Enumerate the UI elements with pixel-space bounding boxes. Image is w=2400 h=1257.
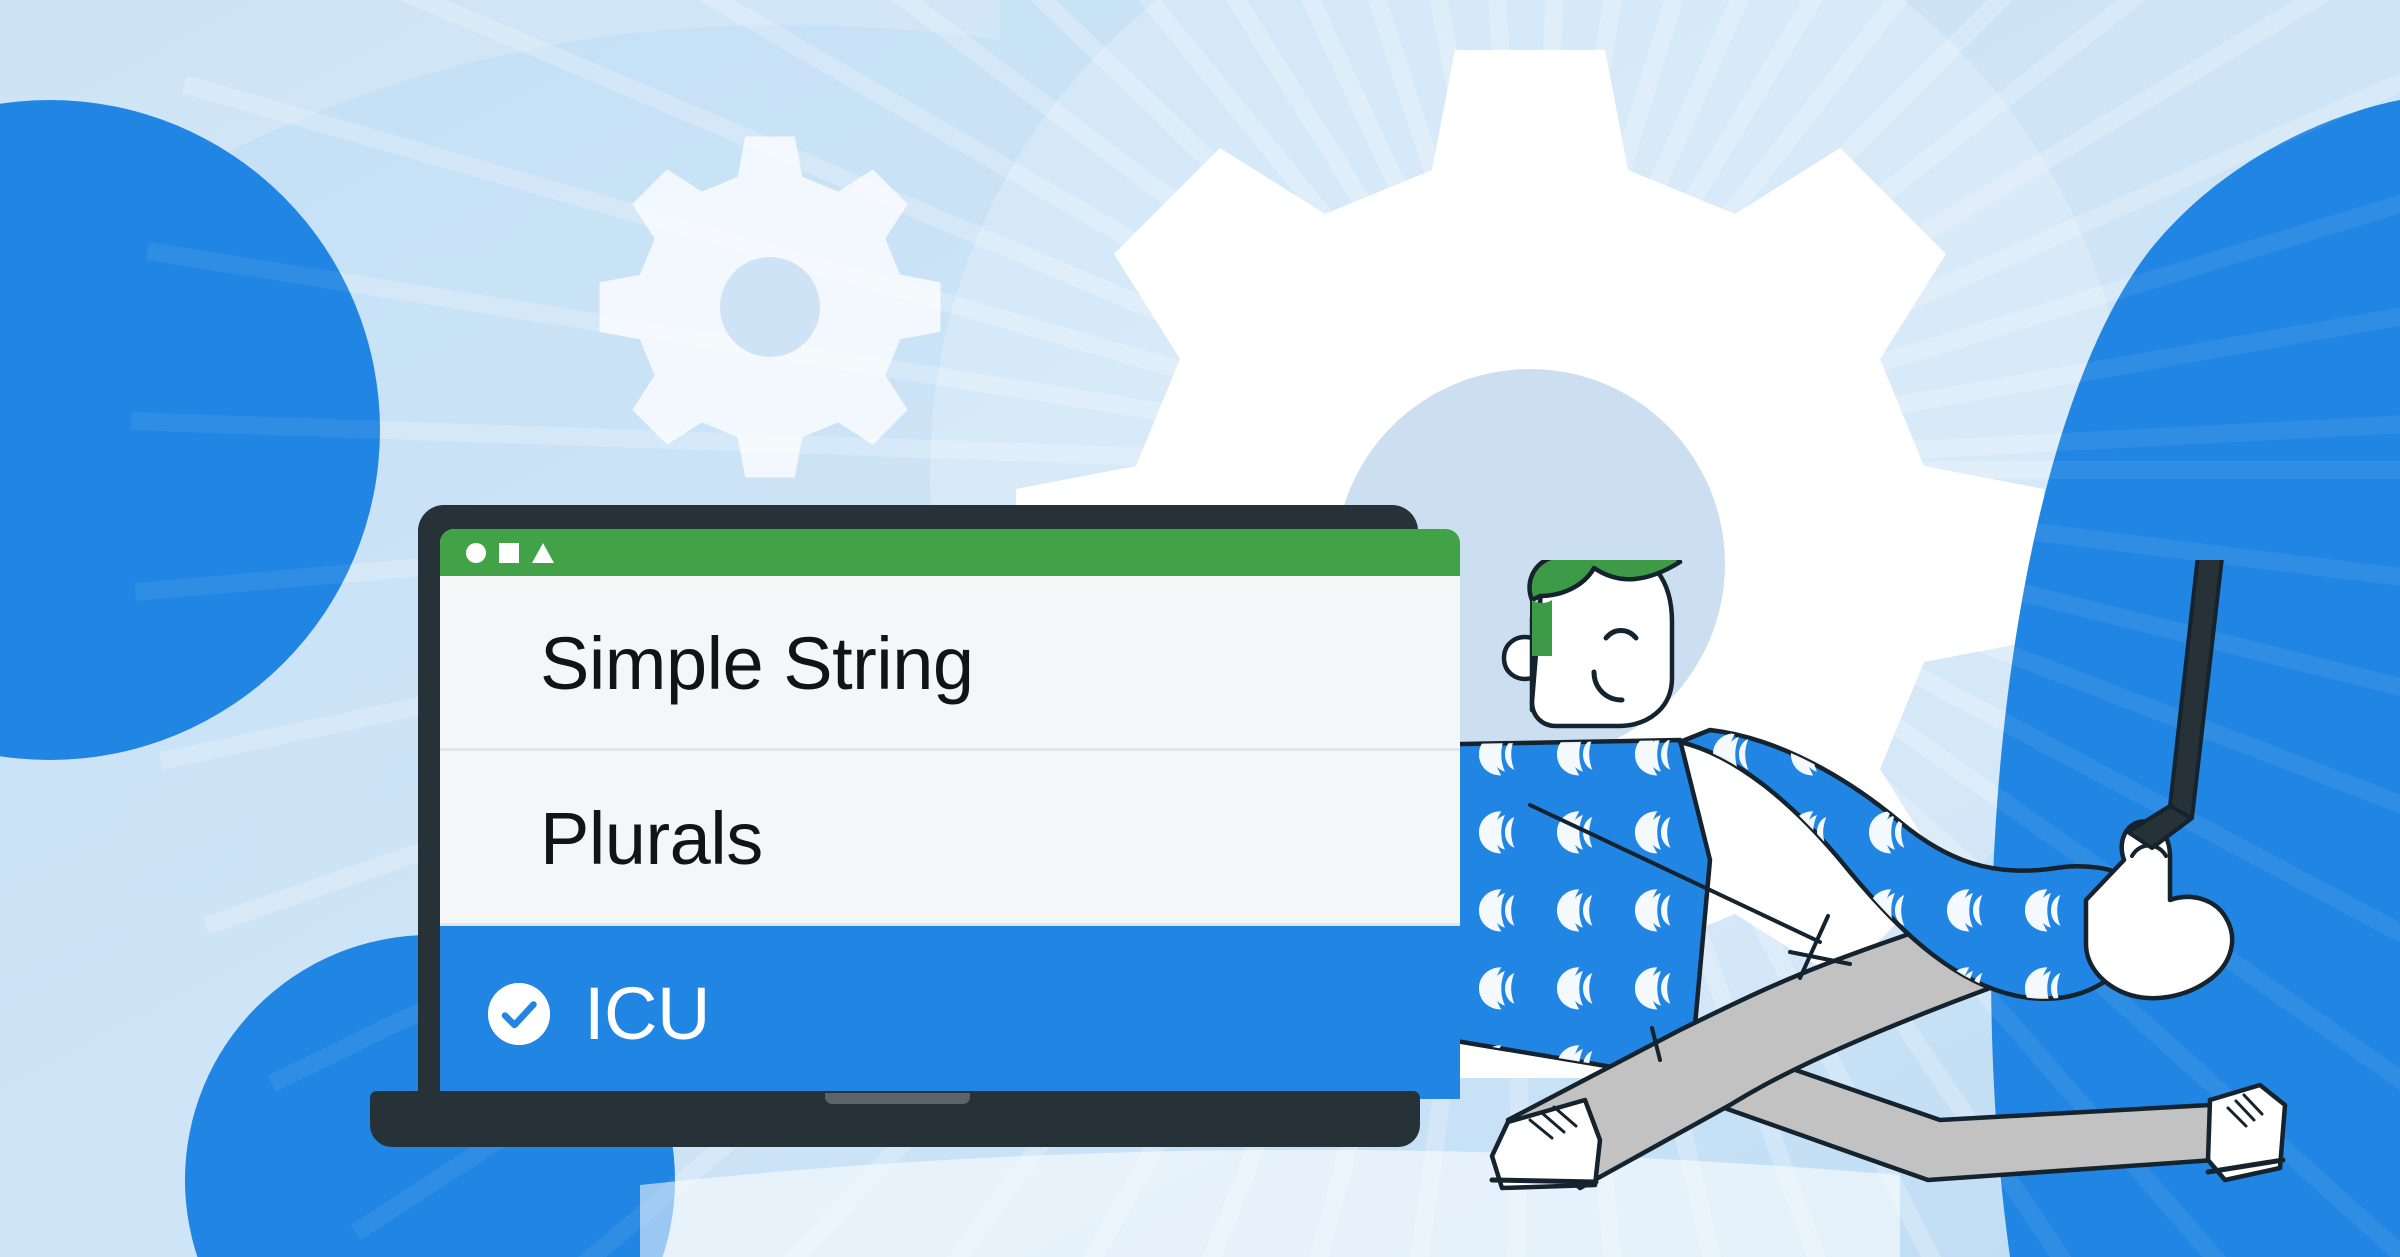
option-row-plurals[interactable]: Plurals (440, 751, 1460, 926)
gear-small-icon (600, 137, 941, 478)
head (1504, 560, 1680, 726)
option-row-simple-string[interactable]: Simple String (440, 576, 1460, 751)
square-control-icon[interactable] (499, 543, 519, 563)
handheld-device (2128, 560, 2222, 848)
check-circle-icon (488, 983, 550, 1045)
window-titlebar (440, 529, 1460, 576)
circle-control-icon[interactable] (466, 543, 486, 563)
laptop-lid: Simple String Plurals ICU (418, 505, 1418, 1100)
option-label-simple-string: Simple String (540, 627, 974, 701)
laptop-hinge-notch (825, 1093, 970, 1104)
format-option-list: Simple String Plurals ICU (440, 576, 1460, 1099)
option-label-icu: ICU (584, 977, 710, 1051)
illustration-canvas: Simple String Plurals ICU (0, 0, 2400, 1257)
hand (2086, 821, 2232, 998)
option-label-plurals: Plurals (540, 802, 763, 876)
option-row-icu[interactable]: ICU (440, 926, 1460, 1099)
person-illustration (1380, 560, 2400, 1257)
laptop-device: Simple String Plurals ICU (370, 505, 1420, 1165)
laptop-screen: Simple String Plurals ICU (440, 529, 1460, 1099)
triangle-control-icon[interactable] (532, 543, 554, 563)
